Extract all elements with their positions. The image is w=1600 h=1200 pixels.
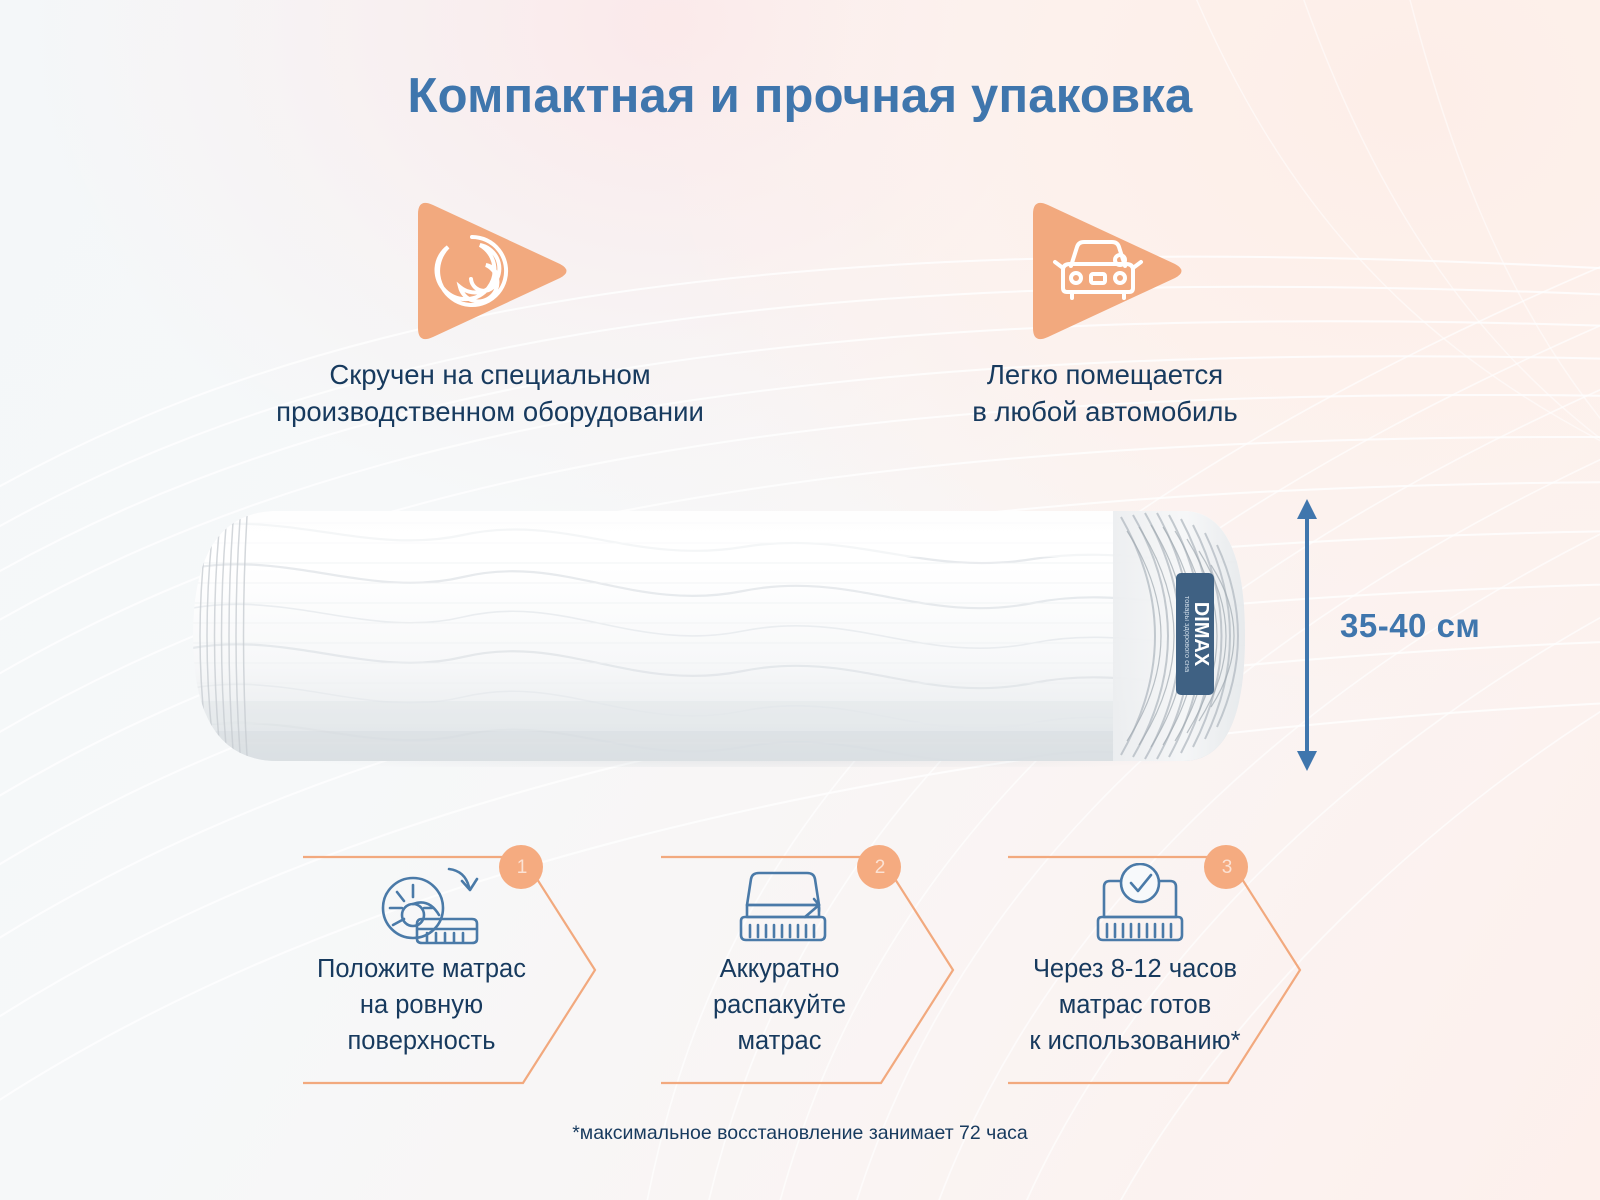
step-label: Аккуратно распакуйте матрас [648,951,911,1060]
promo-banner: Компактная и прочная упаковка Скручен на… [0,0,1600,1200]
feature-block-rolled: Скручен на специальном производственном … [170,190,810,431]
step-card-3: Через 8-12 часов матрас готов к использо… [1000,845,1330,1095]
brand-tag: DIMAX товары здорового сна [1176,573,1214,695]
brand-tag-name: DIMAX [1190,602,1212,667]
step-label: Положите матрас на ровную поверхность [295,951,548,1060]
footnote: *максимальное восстановление занимает 72… [0,1122,1600,1145]
unwrap-mattress-icon [736,863,830,949]
step-label: Через 8-12 часов матрас готов к использо… [990,951,1280,1060]
step-number-badge: 1 [515,857,529,879]
car-front-icon [1015,190,1195,350]
steps-row: Положите матрас на ровную поверхность 1 [295,845,1280,1095]
feature-label: Скручен на специальном производственном … [170,356,810,431]
step-card-2: Аккуратно распакуйте матрас 2 [653,845,983,1095]
feature-label: Легко помещается в любой автомобиль [860,356,1350,431]
height-dimension: 35-40 см [1285,495,1585,775]
page-title: Компактная и прочная упаковка [0,68,1600,124]
rolled-mattress-image: DIMAX товары здорового сна [183,505,1273,767]
unwrap-mattress-icon-wrap [658,863,908,949]
spiral-roll-icon-wrap [170,190,810,350]
step-number-badge: 2 [873,857,887,879]
step-card-1: Положите матрас на ровную поверхность 1 [295,845,625,1095]
feature-block-car: Легко помещается в любой автомобиль [860,190,1350,431]
unroll-mattress-icon [377,863,483,949]
dimension-label: 35-40 см [1340,607,1480,645]
car-front-icon-wrap [860,190,1350,350]
vertical-double-arrow-icon [1285,495,1345,775]
mattress-check-icon [1094,863,1186,949]
brand-tag-subtitle: товары здорового сна [1183,596,1192,673]
spiral-roll-icon [400,190,580,350]
step-number-badge: 3 [1220,857,1234,879]
